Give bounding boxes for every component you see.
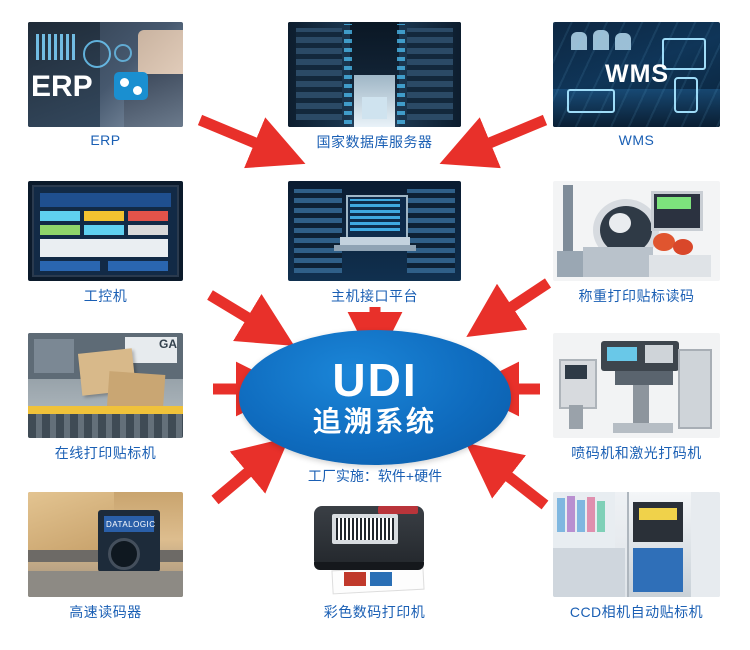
ccd-labeler-image — [553, 492, 720, 597]
node-hs-reader[interactable]: DATALOGIC 高速读码器 — [28, 492, 183, 622]
node-label-national-db: 国家数据库服务器 — [288, 132, 461, 152]
arrow-weigh-to-center — [492, 283, 548, 320]
node-weigh-print[interactable]: 称重打印贴标读码 — [553, 181, 720, 306]
wms-image: WMS — [553, 22, 720, 127]
arrow-erp-to-db — [200, 120, 277, 152]
node-online-labeler[interactable]: GA 在线打印贴标机 — [28, 333, 183, 463]
color-printer-image — [288, 492, 461, 597]
node-ccd-labeler[interactable]: CCD相机自动贴标机 — [553, 492, 720, 622]
node-label-inkjet-laser: 喷码机和激光打码机 — [553, 443, 720, 463]
node-host-platform[interactable]: 主机接口平台 — [288, 181, 461, 306]
weigh-print-image — [553, 181, 720, 281]
host-platform-image — [288, 181, 461, 281]
node-ipc[interactable]: 工控机 — [28, 181, 183, 306]
node-label-hs-reader: 高速读码器 — [28, 602, 183, 622]
arrow-ipc-to-center — [210, 295, 268, 330]
hs-reader-image: DATALOGIC — [28, 492, 183, 597]
center-title: UDI — [332, 357, 417, 403]
ipc-image — [28, 181, 183, 281]
online-labeler-image: GA — [28, 333, 183, 438]
node-wms[interactable]: WMS WMS — [553, 22, 720, 148]
center-ellipse: UDI 追溯系统 — [239, 330, 511, 465]
center-udi-node[interactable]: UDI 追溯系统 — [239, 330, 511, 465]
node-national-db[interactable]: 国家数据库服务器 — [288, 22, 461, 152]
node-inkjet-laser[interactable]: 喷码机和激光打码机 — [553, 333, 720, 463]
node-label-host-platform: 主机接口平台 — [288, 286, 461, 306]
node-label-ipc: 工控机 — [28, 286, 183, 306]
center-subtitle: 追溯系统 — [313, 407, 437, 438]
node-erp[interactable]: ERP ERP — [28, 22, 183, 148]
erp-image: ERP — [28, 22, 183, 127]
node-color-printer[interactable]: 彩色数码打印机 — [288, 492, 461, 622]
diagram-canvas: ERP ERP 国家数据库服务器 — [0, 0, 750, 650]
node-label-ccd-labeler: CCD相机自动贴标机 — [553, 602, 720, 622]
node-label-erp: ERP — [28, 132, 183, 148]
node-label-color-printer: 彩色数码打印机 — [288, 602, 461, 622]
node-label-online-labeler: 在线打印贴标机 — [28, 443, 183, 463]
national-db-image — [288, 22, 461, 127]
node-label-wms: WMS — [553, 132, 720, 148]
arrow-wms-to-db — [468, 120, 545, 152]
center-caption: 工厂实施：软件+硬件 — [239, 466, 511, 486]
wms-overlay-text: WMS — [605, 60, 669, 89]
node-label-weigh-print: 称重打印贴标读码 — [553, 286, 720, 306]
inkjet-laser-image — [553, 333, 720, 438]
erp-overlay-text: ERP — [31, 72, 93, 102]
